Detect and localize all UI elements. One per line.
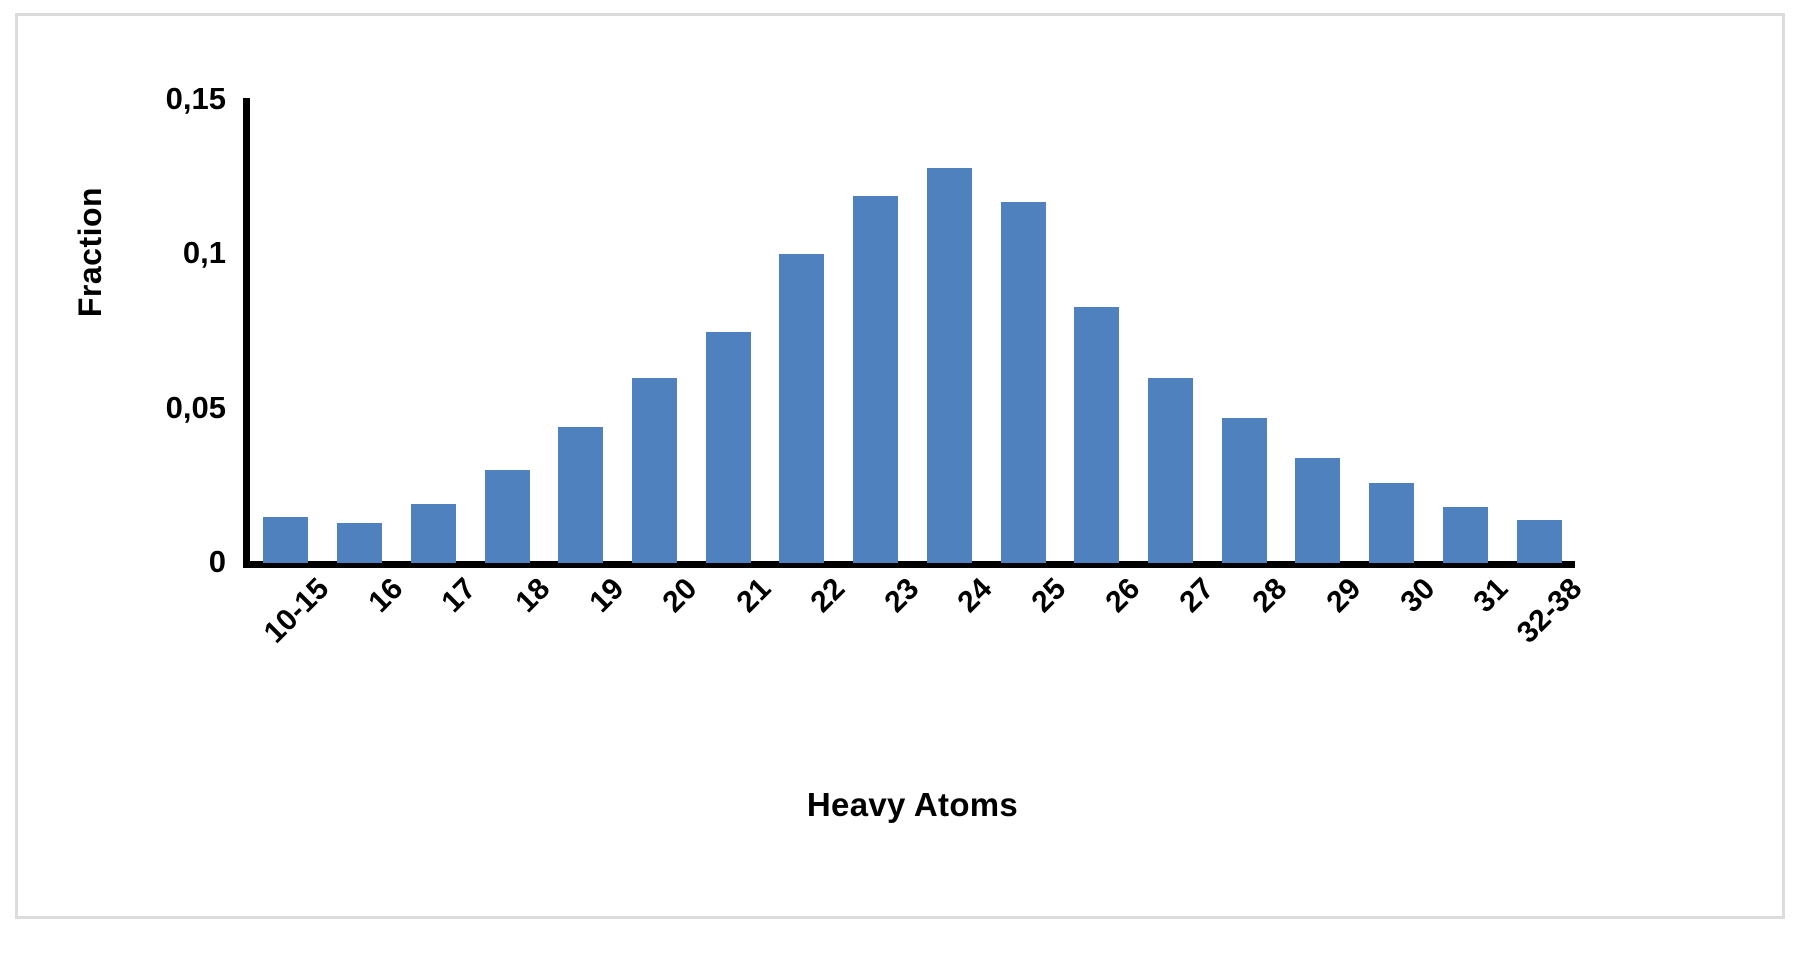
chart-frame: 00,050,10,15 Fraction 10-151617181920212… [15, 13, 1785, 919]
bar[interactable] [706, 332, 751, 564]
y-axis-tick-labels: 00,050,10,15 [18, 16, 226, 956]
bar[interactable] [1001, 202, 1046, 563]
bar[interactable] [1369, 483, 1414, 563]
bar[interactable] [411, 504, 456, 563]
bar[interactable] [1517, 520, 1562, 563]
bar-slot [323, 100, 397, 563]
x-axis-title: Heavy Atoms [249, 786, 1576, 824]
y-axis-tick-label: 0,1 [183, 237, 226, 268]
bar-slot [396, 100, 470, 563]
y-axis-tick-label: 0,05 [166, 392, 226, 423]
bar-slot [544, 100, 618, 563]
bar-slot [986, 100, 1060, 563]
bar[interactable] [1222, 418, 1267, 563]
bar-slot [1355, 100, 1429, 563]
bar-slot [618, 100, 692, 563]
y-axis-title: Fraction [72, 152, 109, 352]
bar-slot [913, 100, 987, 563]
bar-slot [249, 100, 323, 563]
bar[interactable] [632, 378, 677, 563]
bar[interactable] [853, 196, 898, 563]
bar[interactable] [558, 427, 603, 563]
bar[interactable] [1443, 507, 1488, 563]
bar-slot [1281, 100, 1355, 563]
bar-slot [765, 100, 839, 563]
bar[interactable] [263, 517, 308, 563]
bar[interactable] [779, 254, 824, 563]
bar-slot [1134, 100, 1208, 563]
y-axis-tick-label: 0 [209, 546, 226, 577]
bar[interactable] [485, 470, 530, 563]
bar[interactable] [1295, 458, 1340, 563]
bar[interactable] [337, 523, 382, 563]
bar-slot [839, 100, 913, 563]
y-axis-tick-label: 0,15 [166, 83, 226, 114]
plot-area [249, 100, 1576, 563]
bar-slot [1060, 100, 1134, 563]
bar[interactable] [927, 168, 972, 563]
bar-slot [1207, 100, 1281, 563]
x-axis-tick-labels: 10-151617181920212223242526272829303132-… [249, 572, 1576, 692]
bar-slot [1502, 100, 1576, 563]
bar[interactable] [1148, 378, 1193, 563]
bar[interactable] [1074, 307, 1119, 563]
bar-slot [691, 100, 765, 563]
bar-slot [1429, 100, 1503, 563]
bar-slot [470, 100, 544, 563]
